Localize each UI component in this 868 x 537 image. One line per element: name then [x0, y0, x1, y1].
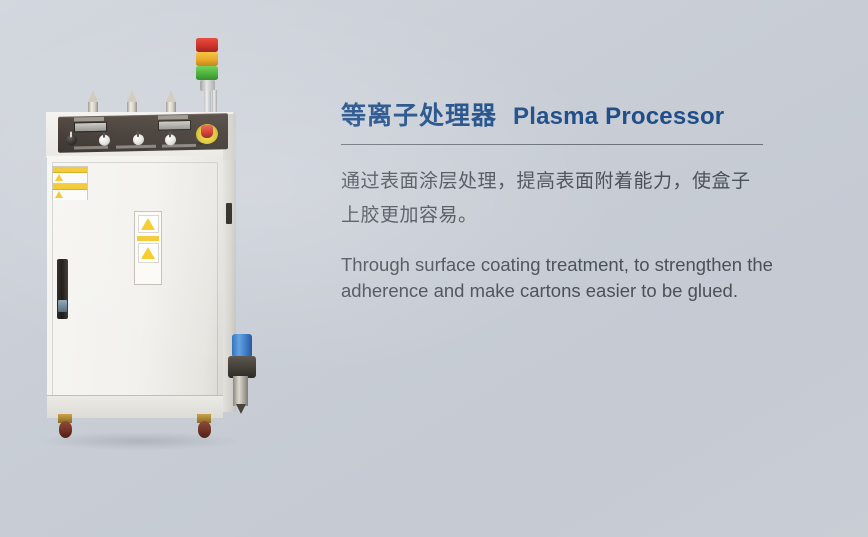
tower-lamp-red-icon [196, 38, 218, 52]
connector-rod [212, 90, 217, 114]
floor-shadow [40, 432, 240, 450]
tower-lamp-green-icon [196, 66, 218, 80]
panel-label-left [74, 117, 104, 122]
side-vent-slot [226, 203, 232, 224]
warning-label-2-bar [53, 184, 87, 190]
panel-sublabel-2 [116, 145, 156, 149]
electrode-tip-2 [127, 90, 137, 102]
electrode-tip-3 [166, 90, 176, 102]
warning-label-2-body [53, 191, 87, 200]
nozzle-stem [233, 376, 248, 406]
nozzle-tip [236, 404, 246, 414]
panel-sublabel-1 [74, 146, 108, 150]
warning-label-1 [52, 166, 88, 183]
nozzle-blue-cap [232, 334, 252, 356]
hazard-label-bottom [138, 243, 159, 263]
door-handle[interactable] [57, 259, 68, 319]
description-panel: 等离子处理器 Plasma Processor 通过表面涂层处理，提高表面附着能… [341, 96, 841, 323]
warning-label-1-bar [53, 167, 87, 173]
product-title-chinese: 等离子处理器 [341, 96, 497, 132]
product-feature-slide: 等离子处理器 Plasma Processor 通过表面涂层处理，提高表面附着能… [0, 0, 868, 537]
high-voltage-warning-icon [141, 247, 155, 259]
warning-label-1-body [53, 174, 87, 183]
panel-label-right [158, 115, 188, 120]
product-title-english: Plasma Processor [513, 103, 724, 131]
electrode-tip-1 [88, 90, 98, 102]
hazard-label-strip [137, 236, 159, 241]
warning-triangle-icon-1 [55, 174, 63, 181]
hazard-label-group [134, 211, 162, 285]
panel-display-1 [74, 122, 107, 133]
panel-sublabel-3 [162, 144, 196, 148]
tower-lamp-amber-icon [196, 52, 218, 66]
warning-label-2 [52, 183, 88, 200]
title-row: 等离子处理器 Plasma Processor [341, 96, 841, 132]
product-photo [0, 0, 330, 537]
nozzle-body [228, 356, 256, 378]
title-divider [341, 144, 763, 145]
warning-triangle-icon-2 [55, 191, 63, 198]
panel-knob-3[interactable] [133, 134, 144, 145]
radiation-warning-icon [141, 218, 155, 230]
panel-display-2 [158, 120, 191, 131]
hazard-label-top [138, 215, 159, 233]
panel-knob-2[interactable] [99, 135, 110, 146]
product-description-english: Through surface coating treatment, to st… [341, 252, 819, 304]
panel-knob-1[interactable] [66, 134, 77, 145]
product-description-chinese: 通过表面涂层处理，提高表面附着能力，使盒子上胶更加容易。 [341, 165, 761, 233]
